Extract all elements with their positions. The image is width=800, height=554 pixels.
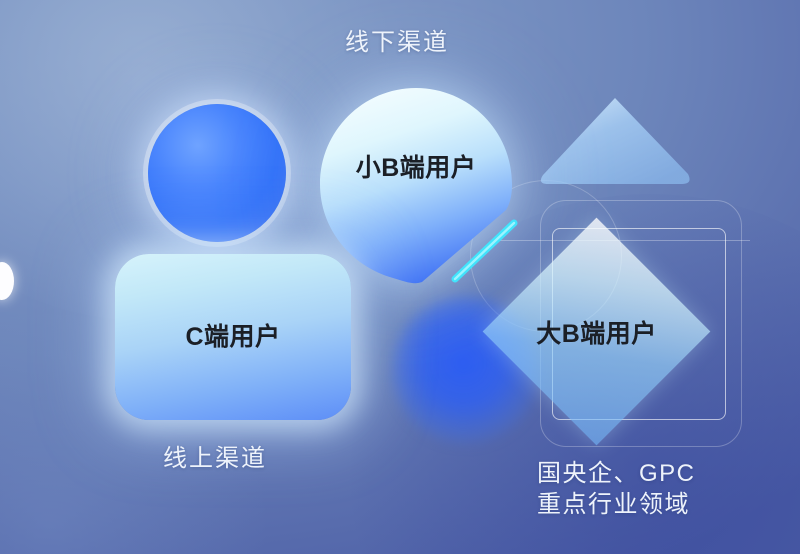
edge-dot-icon	[0, 262, 14, 300]
node-big-b-shape[interactable]: 大B端用户	[483, 218, 710, 445]
node-c-end-label: C端用户	[185, 317, 280, 353]
node-big-b-label: 大B端用户	[483, 218, 710, 445]
decorative-triangle-icon	[536, 94, 694, 186]
decorative-sphere-icon	[148, 104, 286, 242]
infographic-canvas: 小B端用户 C端用户 大B端用户 线下渠道 线上渠道 国央企、GPC 重点行业领…	[0, 0, 800, 554]
caption-gpc-group: 国央企、GPC 重点行业领域	[537, 458, 696, 520]
node-small-b-label: 小B端用户	[318, 148, 514, 184]
caption-online-channel: 线上渠道	[163, 438, 267, 473]
caption-gpc-line2: 重点行业领域	[537, 489, 696, 520]
node-c-end-shape[interactable]: C端用户	[115, 254, 351, 420]
caption-offline-channel: 线下渠道	[345, 22, 449, 57]
caption-gpc-line1: 国央企、GPC	[537, 458, 696, 489]
